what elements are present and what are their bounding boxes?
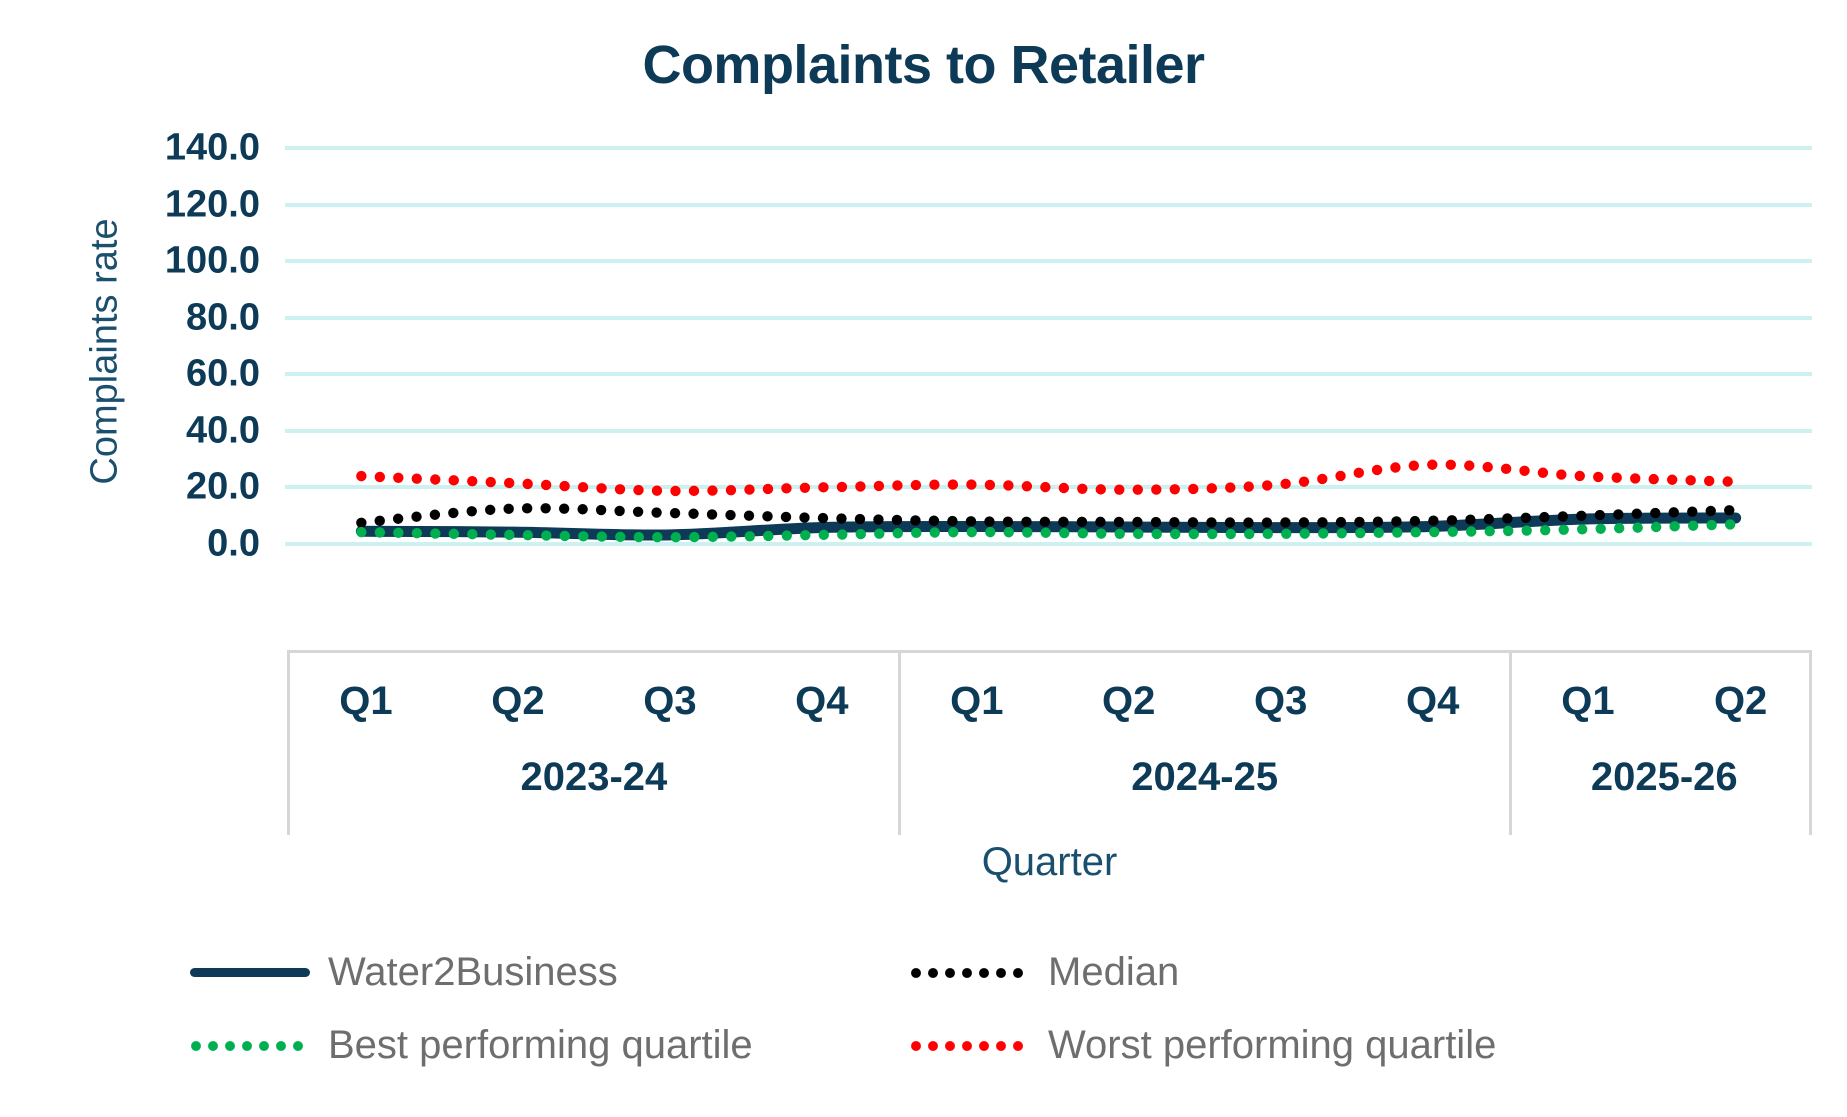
legend-row: Best performing quartileWorst performing… <box>190 1023 1650 1068</box>
series-dot <box>615 484 625 494</box>
x-axis-title: Quarter <box>287 840 1812 885</box>
y-axis-tick-labels: 0.020.040.060.080.0100.0120.0140.0 <box>100 0 260 600</box>
series-dot <box>1354 468 1364 478</box>
series-dot <box>1280 517 1290 527</box>
series-dot <box>1151 484 1161 494</box>
series-dot <box>967 527 977 537</box>
series-dot <box>781 512 791 522</box>
series-dot <box>1577 524 1587 534</box>
series-dot <box>1133 529 1143 539</box>
series-dot <box>1336 517 1346 527</box>
legend-dotted-line-icon <box>190 1033 310 1059</box>
series-dot <box>930 527 940 537</box>
legend-item[interactable]: Water2Business <box>190 950 910 995</box>
series-dot <box>652 485 662 495</box>
x-axis-quarter-label: Q4 <box>1357 653 1509 749</box>
series-dot <box>1170 529 1180 539</box>
series-dot <box>1390 462 1400 472</box>
series-dot <box>375 516 385 526</box>
series-dot <box>1630 473 1640 483</box>
series-dot <box>1485 526 1495 536</box>
series-dot <box>1685 475 1695 485</box>
series-dot <box>1632 522 1642 532</box>
series-dot <box>449 529 459 539</box>
series-dot <box>1189 529 1199 539</box>
series-dot <box>929 516 939 526</box>
series-dot <box>1649 474 1659 484</box>
series-dot <box>1262 517 1272 527</box>
series-dot <box>874 528 884 538</box>
series-dot <box>1021 517 1031 527</box>
series-dot <box>1447 515 1457 525</box>
series-dot <box>855 481 865 491</box>
series-dot <box>504 478 514 488</box>
series-dot <box>837 529 847 539</box>
series-dot <box>503 504 513 514</box>
series-dot <box>559 481 569 491</box>
series-dot <box>1170 484 1180 494</box>
series-dot <box>910 515 920 525</box>
series-dot <box>762 511 772 521</box>
chart-legend: Water2BusinessMedianBest performing quar… <box>190 950 1650 1096</box>
legend-item[interactable]: Worst performing quartile <box>910 1023 1630 1068</box>
legend-row: Water2BusinessMedian <box>190 950 1650 995</box>
series-dot <box>1464 460 1474 470</box>
series-dot <box>1003 480 1013 490</box>
series-dot <box>670 486 680 496</box>
series-dot <box>522 503 532 513</box>
x-axis-quarter-label: Q2 <box>442 653 594 749</box>
series-dot <box>1040 482 1050 492</box>
series-dot <box>966 516 976 526</box>
series-dot <box>522 479 532 489</box>
x-axis-quarter-label: Q3 <box>594 653 746 749</box>
series-dot <box>597 531 607 541</box>
series-dot <box>707 509 717 519</box>
series-dot <box>1059 483 1069 493</box>
series-dot <box>540 503 550 513</box>
series-dot <box>449 475 459 485</box>
series-dot <box>1317 517 1327 527</box>
series-dot <box>1300 528 1310 538</box>
series-dot <box>800 483 810 493</box>
series-layer <box>285 148 1812 544</box>
x-axis-quarter-label: Q1 <box>1512 653 1665 749</box>
y-axis-tick-label: 140.0 <box>100 127 260 170</box>
series-dot <box>1521 513 1531 523</box>
series-dot <box>1519 466 1529 476</box>
series-dot <box>1706 520 1716 530</box>
series-dot <box>1022 481 1032 491</box>
series-dot <box>1096 528 1106 538</box>
series-dot <box>1559 525 1569 535</box>
series-dot <box>1722 476 1732 486</box>
series-dot <box>614 506 624 516</box>
series-dot <box>430 474 440 484</box>
series-dot <box>1539 512 1549 522</box>
series-dot <box>1299 476 1309 486</box>
series-dot <box>1059 528 1069 538</box>
series-dot <box>375 527 385 537</box>
legend-item[interactable]: Median <box>910 950 1630 995</box>
series-dot <box>1667 475 1677 485</box>
series-dot <box>1651 522 1661 532</box>
series-dot <box>1725 519 1735 529</box>
series-dot <box>893 528 903 538</box>
series-dot <box>448 508 458 518</box>
series-dot <box>911 480 921 490</box>
series-dot <box>467 476 477 486</box>
series-dot <box>1004 527 1014 537</box>
series-dot <box>1040 517 1050 527</box>
legend-dotted-line-icon <box>910 1033 1030 1059</box>
series-dot <box>615 532 625 542</box>
series-dot <box>467 506 477 516</box>
y-axis-tick-label: 80.0 <box>100 296 260 339</box>
series-dot <box>1281 529 1291 539</box>
series-dot <box>1373 517 1383 527</box>
series-dot <box>1556 469 1566 479</box>
series-dot <box>485 505 495 515</box>
series-dot <box>1558 511 1568 521</box>
series-dot <box>430 528 440 538</box>
series-dot <box>1448 527 1458 537</box>
series-dot <box>1411 527 1421 537</box>
series-dot <box>1428 516 1438 526</box>
series-dot <box>1522 525 1532 535</box>
x-axis-quarter-label: Q4 <box>746 653 898 749</box>
y-axis-tick-label: 60.0 <box>100 353 260 396</box>
series-dot <box>1503 526 1513 536</box>
series-dot <box>1244 481 1254 491</box>
series-dot <box>1576 511 1586 521</box>
series-dot <box>1095 517 1105 527</box>
legend-label: Best performing quartile <box>328 1023 753 1068</box>
series-dot <box>1207 529 1217 539</box>
series-dot <box>486 477 496 487</box>
series-dot <box>1593 472 1603 482</box>
series-dot <box>1596 524 1606 534</box>
series-dot <box>596 483 606 493</box>
series-dot <box>541 530 551 540</box>
series-dot <box>689 486 699 496</box>
x-axis-quarter-label: Q1 <box>290 653 442 749</box>
series-dot <box>412 528 422 538</box>
series-dot <box>985 527 995 537</box>
series-dot <box>1632 509 1642 519</box>
series-dot <box>1595 510 1605 520</box>
series-dot <box>1132 517 1142 527</box>
series-dot <box>560 531 570 541</box>
series-dot <box>1688 521 1698 531</box>
legend-label: Worst performing quartile <box>1048 1023 1496 1068</box>
series-dot <box>430 510 440 520</box>
series-dot <box>1612 473 1622 483</box>
series-dot <box>1041 528 1051 538</box>
series-dot <box>966 479 976 489</box>
series-dot <box>577 504 587 514</box>
series-dot <box>1391 516 1401 526</box>
x-axis-category-table: Q1Q2Q3Q42023-24Q1Q2Q3Q42024-25Q1Q22025-2… <box>287 650 1812 835</box>
series-dot <box>1354 517 1364 527</box>
y-axis-tick-label: 120.0 <box>100 183 260 226</box>
series-dot <box>1226 529 1236 539</box>
series-dot <box>356 471 366 481</box>
x-axis-year-group: Q1Q2Q3Q42023-24 <box>290 653 901 835</box>
series-dot <box>1096 484 1106 494</box>
series-dot <box>1115 529 1125 539</box>
series-dot <box>874 481 884 491</box>
series-dot <box>393 514 403 524</box>
series-dot <box>1169 517 1179 527</box>
series-dot <box>1392 527 1402 537</box>
series-dot <box>1299 517 1309 527</box>
series-dot <box>782 530 792 540</box>
x-axis-quarter-row: Q1Q2Q3Q4 <box>290 653 898 749</box>
series-dot <box>1058 517 1068 527</box>
x-axis-quarter-label: Q3 <box>1205 653 1357 749</box>
x-axis-quarter-label: Q1 <box>901 653 1053 749</box>
series-dot <box>1484 514 1494 524</box>
series-dot <box>1225 482 1235 492</box>
series-dot <box>1335 471 1345 481</box>
series-dot <box>1446 460 1456 470</box>
series-dot <box>578 482 588 492</box>
series-dot <box>1466 526 1476 536</box>
series-dot <box>1225 517 1235 527</box>
series-dot <box>541 480 551 490</box>
series-dot <box>393 528 403 538</box>
series-dot <box>1465 515 1475 525</box>
legend-dotted-line-icon <box>910 960 1030 986</box>
x-axis-quarter-row: Q1Q2Q3Q4 <box>901 653 1509 749</box>
y-axis-tick-label: 20.0 <box>100 466 260 509</box>
x-axis-year-group: Q1Q22025-26 <box>1512 653 1817 835</box>
series-dot <box>985 480 995 490</box>
series-dot <box>633 507 643 517</box>
series-dot <box>1706 506 1716 516</box>
series-dot <box>393 473 403 483</box>
plot-area <box>285 148 1812 544</box>
series-dot <box>1650 508 1660 518</box>
series-dot <box>1337 528 1347 538</box>
series-dot <box>744 510 754 520</box>
page-title: Complaints to Retailer <box>0 34 1847 96</box>
series-dot <box>1188 484 1198 494</box>
legend-line-icon <box>190 960 310 986</box>
series-dot <box>411 512 421 522</box>
series-dot <box>892 480 902 490</box>
series-dot <box>1244 529 1254 539</box>
series-dot <box>1410 516 1420 526</box>
series-dot <box>1207 483 1217 493</box>
series-dot <box>1243 517 1253 527</box>
series-dot <box>799 512 809 522</box>
y-axis-tick-label: 100.0 <box>100 240 260 283</box>
series-dot <box>671 532 681 542</box>
series-dot <box>634 532 644 542</box>
series-dot <box>856 529 866 539</box>
series-dot <box>356 518 366 528</box>
series-dot <box>1669 521 1679 531</box>
series-dot <box>1003 516 1013 526</box>
series-dot <box>1687 506 1697 516</box>
series-dot <box>1263 529 1273 539</box>
series-dot <box>1724 505 1734 515</box>
series-dot <box>1501 464 1511 474</box>
series-dot <box>911 528 921 538</box>
series-dot <box>467 529 477 539</box>
x-axis-year-label: 2023-24 <box>290 749 898 835</box>
series-dot <box>1078 528 1088 538</box>
series-dot <box>1262 480 1272 490</box>
x-axis-quarter-label: Q2 <box>1053 653 1205 749</box>
series-dot <box>559 503 569 513</box>
series-dot <box>1188 517 1198 527</box>
series-dot <box>1538 468 1548 478</box>
series-dot <box>744 484 754 494</box>
series-dot <box>929 480 939 490</box>
series-dot <box>1133 484 1143 494</box>
series-dot <box>651 507 661 517</box>
x-axis-quarter-label: Q2 <box>1664 653 1817 749</box>
series-dot <box>1429 527 1439 537</box>
x-axis-year-label: 2025-26 <box>1512 749 1817 835</box>
series-worst-performing-quartile <box>356 460 1733 497</box>
x-axis-year-label: 2024-25 <box>901 749 1509 835</box>
series-dot <box>818 482 828 492</box>
series-dot <box>1374 528 1384 538</box>
series-dot <box>1575 471 1585 481</box>
series-dot <box>523 530 533 540</box>
series-dot <box>652 532 662 542</box>
series-dot <box>707 485 717 495</box>
series-dot <box>726 485 736 495</box>
series-dot <box>708 532 718 542</box>
series-dot <box>947 516 957 526</box>
series-dot <box>763 484 773 494</box>
series-dot <box>504 530 514 540</box>
series-dot <box>1206 517 1216 527</box>
series-dot <box>633 485 643 495</box>
series-dot <box>1409 460 1419 470</box>
series-dot <box>1114 484 1124 494</box>
series-dot <box>1483 462 1493 472</box>
series-dot <box>689 532 699 542</box>
series-dot <box>1318 528 1328 538</box>
series-dot <box>892 515 902 525</box>
series-dot <box>819 530 829 540</box>
series-dot <box>763 531 773 541</box>
series-dot <box>948 527 958 537</box>
series-dot <box>745 531 755 541</box>
legend-label: Median <box>1048 950 1179 995</box>
series-dot <box>1022 527 1032 537</box>
series-dot <box>1151 517 1161 527</box>
series-dot <box>1613 509 1623 519</box>
series-dot <box>670 508 680 518</box>
series-dot <box>837 482 847 492</box>
y-axis-tick-label: 0.0 <box>100 523 260 566</box>
series-dot <box>688 509 698 519</box>
series-dot <box>1077 517 1087 527</box>
series-dot <box>855 514 865 524</box>
series-dot <box>375 472 385 482</box>
series-dot <box>836 513 846 523</box>
series-dot <box>1540 525 1550 535</box>
series-dot <box>1114 517 1124 527</box>
series-dot <box>1077 484 1087 494</box>
series-dot <box>1614 523 1624 533</box>
series-dot <box>725 510 735 520</box>
legend-item[interactable]: Best performing quartile <box>190 1023 910 1068</box>
legend-label: Water2Business <box>328 950 618 995</box>
y-axis-tick-label: 40.0 <box>100 409 260 452</box>
series-dot <box>1502 513 1512 523</box>
series-dot <box>486 529 496 539</box>
series-dot <box>1317 474 1327 484</box>
series-dot <box>578 531 588 541</box>
series-dot <box>1372 465 1382 475</box>
series-dot <box>1427 460 1437 470</box>
series-dot <box>412 473 422 483</box>
series-dot <box>1280 479 1290 489</box>
x-axis-year-group: Q1Q2Q3Q42024-25 <box>901 653 1512 835</box>
series-dot <box>1669 507 1679 517</box>
series-dot <box>726 531 736 541</box>
series-dot <box>1152 529 1162 539</box>
series-dot <box>984 516 994 526</box>
series-dot <box>1704 476 1714 486</box>
series-dot <box>948 479 958 489</box>
x-axis-quarter-row: Q1Q2 <box>1512 653 1817 749</box>
series-dot <box>800 530 810 540</box>
series-dot <box>873 514 883 524</box>
series-dot <box>781 483 791 493</box>
series-dot <box>356 527 366 537</box>
series-dot <box>596 505 606 515</box>
series-dot <box>1355 528 1365 538</box>
series-dot <box>818 513 828 523</box>
